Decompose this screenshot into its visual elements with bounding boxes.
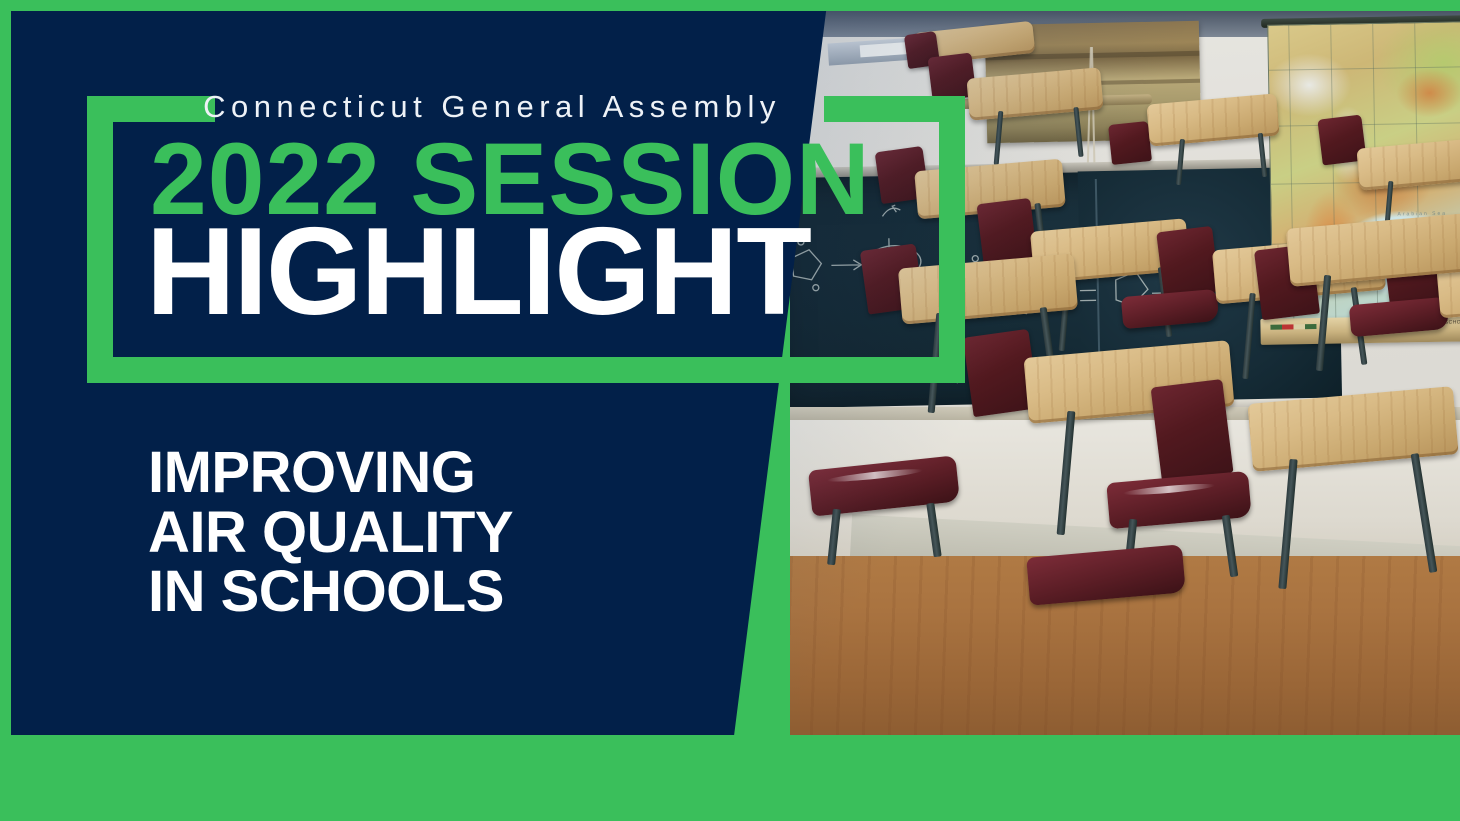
subtitle-block: IMPROVING AIR QUALITY IN SCHOOLS [148,443,768,622]
headline-highlight: HIGHLIGHT [146,222,810,324]
frame-bottom-bar [87,357,965,383]
footer-bar: CONNECTICUT HOUSE DEMOCRATS [0,735,1460,821]
frame-right-bar [939,96,965,383]
subtitle-line-3: IN SCHOOLS [148,562,768,622]
map-scale-bar [1270,324,1316,330]
frame-left-bar [87,96,113,383]
subtitle-line-1: IMPROVING [148,443,768,503]
subtitle-line-2: AIR QUALITY [148,503,768,563]
session-highlight-graphic: ∫ dx I N D I A N O Arabian Sea WENSC [0,0,1460,821]
